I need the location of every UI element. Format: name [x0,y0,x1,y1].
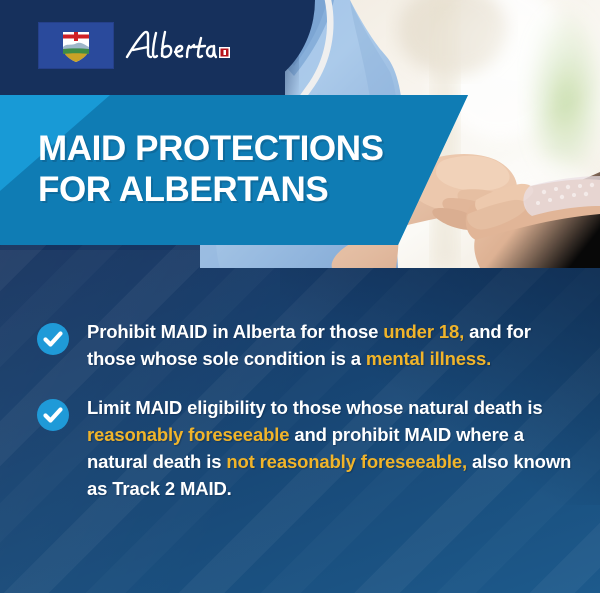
highlighted-phrase: mental illness. [366,348,491,369]
list-item-text: Limit MAID eligibility to those whose na… [87,394,584,502]
checkmark-circle-icon [36,322,70,356]
list-item-text: Prohibit MAID in Alberta for those under… [87,318,584,372]
title-banner: MAID PROTECTIONS FOR ALBERTANS [0,95,468,245]
protection-list: Prohibit MAID in Alberta for those under… [36,318,584,524]
highlighted-phrase: not reasonably foreseeable, [226,451,467,472]
checkmark-circle-icon [36,398,70,432]
infographic-poster: MAID PROTECTIONS FOR ALBERTANS Prohibit … [0,0,600,593]
alberta-flag-icon [38,22,114,69]
list-item: Limit MAID eligibility to those whose na… [36,394,584,502]
plain-phrase: Limit MAID eligibility to those whose na… [87,397,542,418]
alberta-wordmark [123,27,233,67]
alberta-flag-graphic [39,23,113,68]
list-item: Prohibit MAID in Alberta for those under… [36,318,584,372]
alberta-wordmark-graphic [123,27,233,67]
plain-phrase: Prohibit MAID in Alberta for those [87,321,383,342]
highlighted-phrase: under 18, [383,321,464,342]
highlighted-phrase: reasonably foreseeable [87,424,289,445]
header-bar-fade [243,0,299,96]
page-title: MAID PROTECTIONS FOR ALBERTANS [38,128,438,210]
